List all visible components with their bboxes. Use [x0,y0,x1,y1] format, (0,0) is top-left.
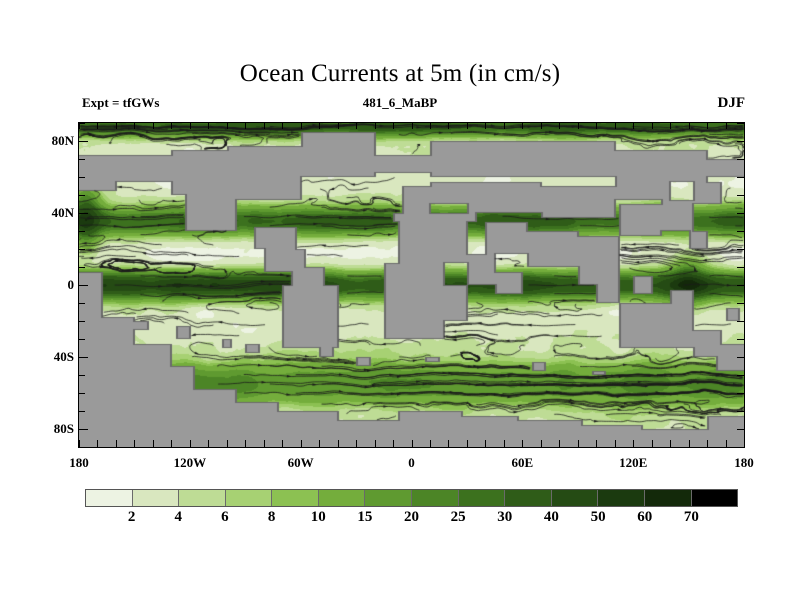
y-major-tick [78,213,88,214]
x-tick [208,122,209,129]
x-tick [412,440,413,447]
y-tick [737,429,744,430]
season-label: DJF [718,95,746,112]
colorbar-tick-label: 40 [544,509,559,526]
y-tick [737,375,744,376]
y-tick [737,159,744,160]
x-tick [541,122,542,129]
colorbar-tick-label: 2 [128,509,136,526]
x-tick [633,440,634,447]
colorbar-band [319,490,366,506]
x-axis-label: 60E [511,455,533,471]
x-tick [559,122,560,129]
colorbar-tick-label: 20 [404,509,419,526]
colorbar-band [179,490,226,506]
x-tick [670,440,671,447]
y-tick [737,249,744,250]
colorbar-tick-label: 25 [451,509,466,526]
x-tick [504,440,505,447]
x-tick [375,440,376,447]
x-tick [153,122,154,129]
x-tick [615,122,616,129]
x-tick [744,440,745,447]
x-tick [97,122,98,129]
y-tick [78,231,85,232]
x-tick [190,122,191,129]
x-tick [559,440,560,447]
y-axis-label: 80S [54,421,74,437]
y-axis-label: 40S [54,349,74,365]
x-tick [282,440,283,447]
x-tick [79,440,80,447]
colorbar-band [365,490,412,506]
x-tick [264,440,265,447]
y-tick [78,123,85,124]
x-tick [485,440,486,447]
x-tick [689,440,690,447]
x-tick [208,440,209,447]
x-tick [375,122,376,129]
x-tick [153,440,154,447]
x-tick [744,122,745,129]
colorbar-tick-label: 30 [497,509,512,526]
x-tick [448,122,449,129]
x-tick [652,122,653,129]
x-tick [356,440,357,447]
x-tick [652,440,653,447]
x-tick [338,440,339,447]
colorbar-tick-label: 6 [221,509,229,526]
x-tick [319,440,320,447]
x-tick [134,122,135,129]
x-tick [633,122,634,129]
x-tick [615,440,616,447]
x-tick [707,122,708,129]
y-major-tick [78,141,88,142]
x-axis-label: 120E [619,455,647,471]
colorbar-labels: 2468101520253040506070 [85,509,738,531]
x-axis-label: 60W [288,455,314,471]
y-tick [737,393,744,394]
colorbar-band [226,490,273,506]
x-tick [412,122,413,129]
y-major-tick [78,357,88,358]
y-tick [78,339,85,340]
colorbar-tick-label: 8 [268,509,276,526]
x-tick [301,440,302,447]
x-tick [578,122,579,129]
x-tick [282,122,283,129]
figure-title: Ocean Currents at 5m (in cm/s) [0,60,800,88]
y-tick [78,249,85,250]
experiment-label: Expt = tfGWs [82,95,159,111]
y-tick [737,303,744,304]
x-tick [245,122,246,129]
x-tick [726,122,727,129]
y-tick [78,411,85,412]
y-tick [737,231,744,232]
y-tick [737,177,744,178]
colorbar-band [86,490,133,506]
colorbar-band [272,490,319,506]
x-tick [264,122,265,129]
x-tick [467,122,468,129]
y-tick [737,267,744,268]
colorbar [85,489,738,507]
x-axis-label: 0 [408,455,415,471]
x-axis-label: 120W [174,455,207,471]
y-tick [78,195,85,196]
y-tick [78,375,85,376]
map-plot-area [78,122,745,448]
x-tick [522,122,523,129]
x-tick [356,122,357,129]
x-tick [227,122,228,129]
y-tick [737,339,744,340]
x-axis-label: 180 [734,455,754,471]
colorbar-band [552,490,599,506]
colorbar-band [133,490,180,506]
colorbar-band [645,490,692,506]
x-tick [596,122,597,129]
y-tick [737,357,744,358]
x-axis-label: 180 [69,455,89,471]
y-tick [78,393,85,394]
x-tick [190,440,191,447]
x-tick [301,122,302,129]
x-tick [726,440,727,447]
x-tick [245,440,246,447]
y-tick [737,411,744,412]
x-tick [393,440,394,447]
colorbar-band [598,490,645,506]
y-axis-label: 40N [52,205,74,221]
y-tick [737,123,744,124]
colorbar-band [459,490,506,506]
colorbar-band [505,490,552,506]
x-tick [97,440,98,447]
x-tick [485,122,486,129]
x-tick [116,440,117,447]
x-tick [319,122,320,129]
x-tick [670,122,671,129]
y-tick [78,447,85,448]
x-tick [430,440,431,447]
figure-root: Ocean Currents at 5m (in cm/s) 481_6_MaB… [0,0,800,600]
x-tick [596,440,597,447]
x-tick [522,440,523,447]
ocean-current-map [79,123,744,447]
y-tick [78,267,85,268]
x-tick [430,122,431,129]
x-tick [393,122,394,129]
y-tick [737,213,744,214]
x-tick [338,122,339,129]
colorbar-band [412,490,459,506]
y-tick [737,195,744,196]
x-tick [448,440,449,447]
y-axis-label: 0 [68,277,75,293]
y-tick [737,447,744,448]
y-tick [78,321,85,322]
y-tick [78,303,85,304]
y-tick [737,321,744,322]
colorbar-band [692,490,738,506]
y-major-tick [78,285,88,286]
colorbar-tick-label: 4 [175,509,183,526]
colorbar-tick-label: 70 [684,509,699,526]
y-tick [737,141,744,142]
x-tick [116,122,117,129]
x-tick [541,440,542,447]
y-axis-label: 80N [52,133,74,149]
x-tick [504,122,505,129]
x-tick [171,122,172,129]
colorbar-tick-label: 50 [591,509,606,526]
x-tick [578,440,579,447]
x-tick [689,122,690,129]
y-tick [78,177,85,178]
x-tick [227,440,228,447]
y-tick [78,159,85,160]
colorbar-tick-label: 60 [637,509,652,526]
colorbar-tick-label: 10 [311,509,326,526]
x-tick [467,440,468,447]
x-tick [134,440,135,447]
y-tick [737,285,744,286]
x-tick [707,440,708,447]
colorbar-tick-label: 15 [357,509,372,526]
y-major-tick [78,429,88,430]
x-tick [171,440,172,447]
